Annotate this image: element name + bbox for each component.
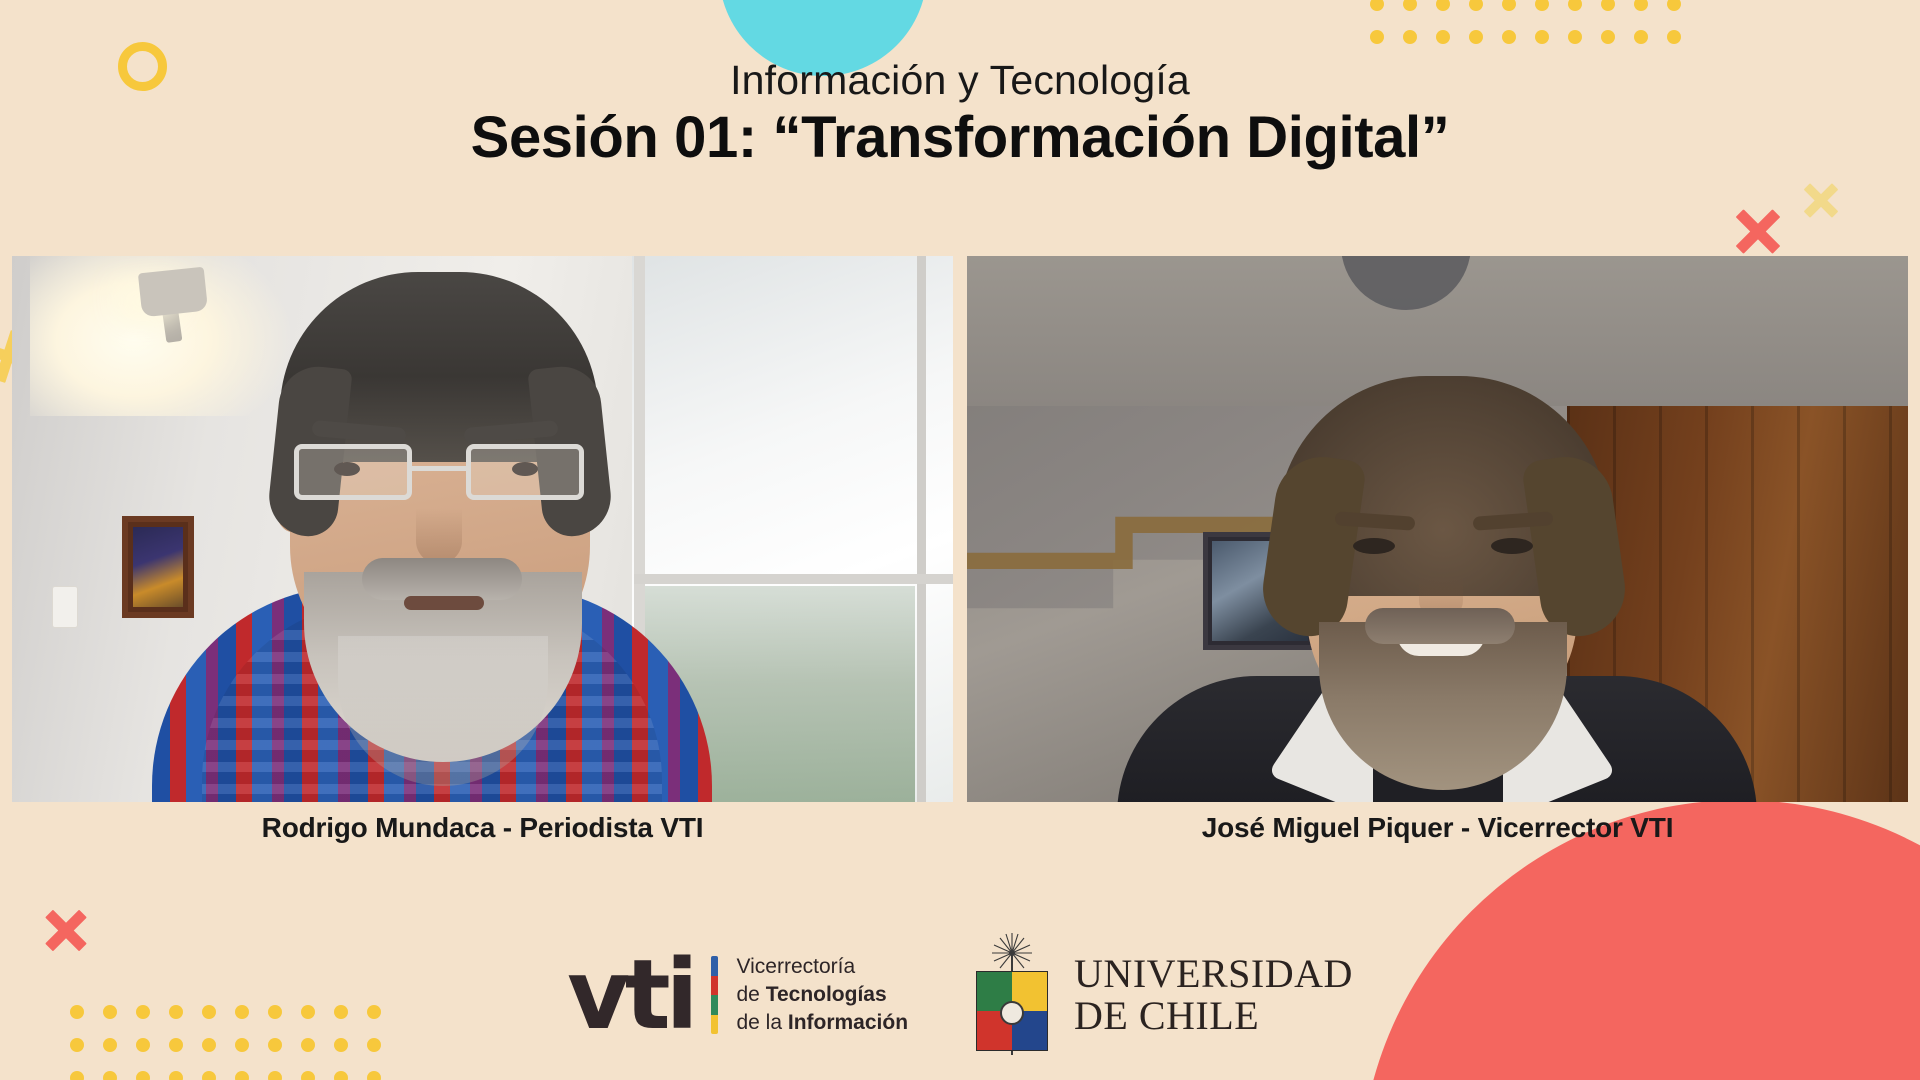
vti-tagline: Vicerrectoría de Tecnologías de la Infor… [736, 953, 908, 1036]
vti-wordmark: vti [567, 957, 693, 1034]
kicker-text: Información y Tecnología [0, 58, 1920, 102]
video-panel-right[interactable] [967, 256, 1908, 802]
universidad-de-chile-logo: UNIVERSIDAD DE CHILE [970, 935, 1353, 1055]
wall-lamp [138, 267, 208, 318]
dot-grid-top-right [1370, 0, 1700, 63]
uchile-crest-icon [970, 935, 1054, 1055]
eyeglasses [294, 444, 584, 500]
vti-tagline-line1: Vicerrectoría [736, 953, 908, 981]
eye-left [1353, 538, 1395, 554]
caption-right: José Miguel Piquer - Vicerrector VTI [967, 812, 1908, 872]
vti-logo: vti Vicerrectoría de Tecnologías de la I… [567, 953, 908, 1036]
video-panel-left[interactable] [12, 256, 953, 802]
eye-right [1491, 538, 1533, 554]
caption-left: Rodrigo Mundaca - Periodista VTI [12, 812, 953, 872]
university-name-line2: DE CHILE [1074, 995, 1353, 1037]
slide-canvas: Información y Tecnología Sesión 01: “Tra… [0, 0, 1920, 1080]
yellow-x-icon-top-right [1801, 180, 1841, 220]
window-frame-horizontal [634, 574, 953, 584]
crest-medallion [1000, 1001, 1024, 1025]
moustache [1365, 608, 1515, 644]
video-grid [12, 256, 1908, 802]
university-name: UNIVERSIDAD DE CHILE [1074, 953, 1353, 1037]
title-block: Información y Tecnología Sesión 01: “Tra… [0, 58, 1920, 169]
vti-tagline-line2: de Tecnologías [736, 981, 908, 1009]
window-frame-vertical-2 [917, 256, 926, 802]
vti-color-bar [711, 956, 718, 1034]
caption-row: Rodrigo Mundaca - Periodista VTI José Mi… [12, 812, 1908, 872]
mouth [404, 596, 484, 610]
page-title: Sesión 01: “Transformación Digital” [0, 108, 1920, 169]
moustache [362, 558, 522, 600]
footer-logos: vti Vicerrectoría de Tecnologías de la I… [0, 930, 1920, 1060]
light-switch [52, 586, 78, 628]
red-x-icon-top-right [1732, 205, 1784, 257]
university-name-line1: UNIVERSIDAD [1074, 953, 1353, 995]
framed-picture [122, 516, 194, 618]
vti-tagline-line3: de la Información [736, 1009, 908, 1037]
